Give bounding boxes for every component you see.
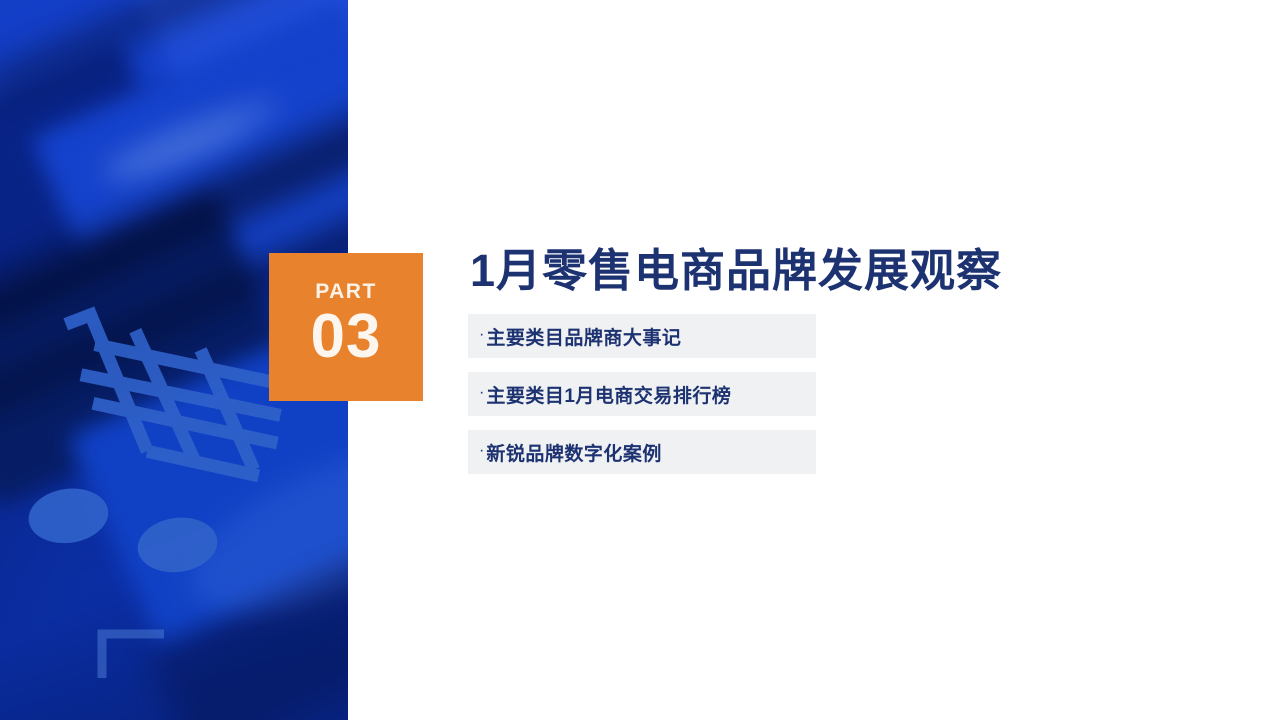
list-item[interactable]: · 新锐品牌数字化案例 [468, 430, 816, 474]
list-item-label: 主要类目品牌商大事记 [486, 323, 681, 350]
page-title: 1月零售电商品牌发展观察 [470, 246, 1228, 296]
slide-content: 1月零售电商品牌发展观察 · 主要类目品牌商大事记 · 主要类目1月电商交易排行… [468, 246, 1228, 488]
list-item[interactable]: · 主要类目1月电商交易排行榜 [468, 372, 816, 416]
bullet-icon: · [479, 443, 484, 459]
part-number: 03 [311, 306, 382, 368]
bullet-icon: · [479, 327, 484, 343]
list-item[interactable]: · 主要类目品牌商大事记 [468, 314, 816, 358]
table-of-contents: · 主要类目品牌商大事记 · 主要类目1月电商交易排行榜 · 新锐品牌数字化案例 [468, 314, 816, 474]
list-item-label: 新锐品牌数字化案例 [486, 439, 662, 466]
part-number-badge: PART 03 [269, 253, 423, 401]
presentation-slide: PART 03 1月零售电商品牌发展观察 · 主要类目品牌商大事记 · 主要类目… [0, 0, 1280, 720]
part-label: PART [315, 281, 377, 302]
bullet-icon: · [479, 385, 484, 401]
list-item-label: 主要类目1月电商交易排行榜 [486, 381, 731, 408]
